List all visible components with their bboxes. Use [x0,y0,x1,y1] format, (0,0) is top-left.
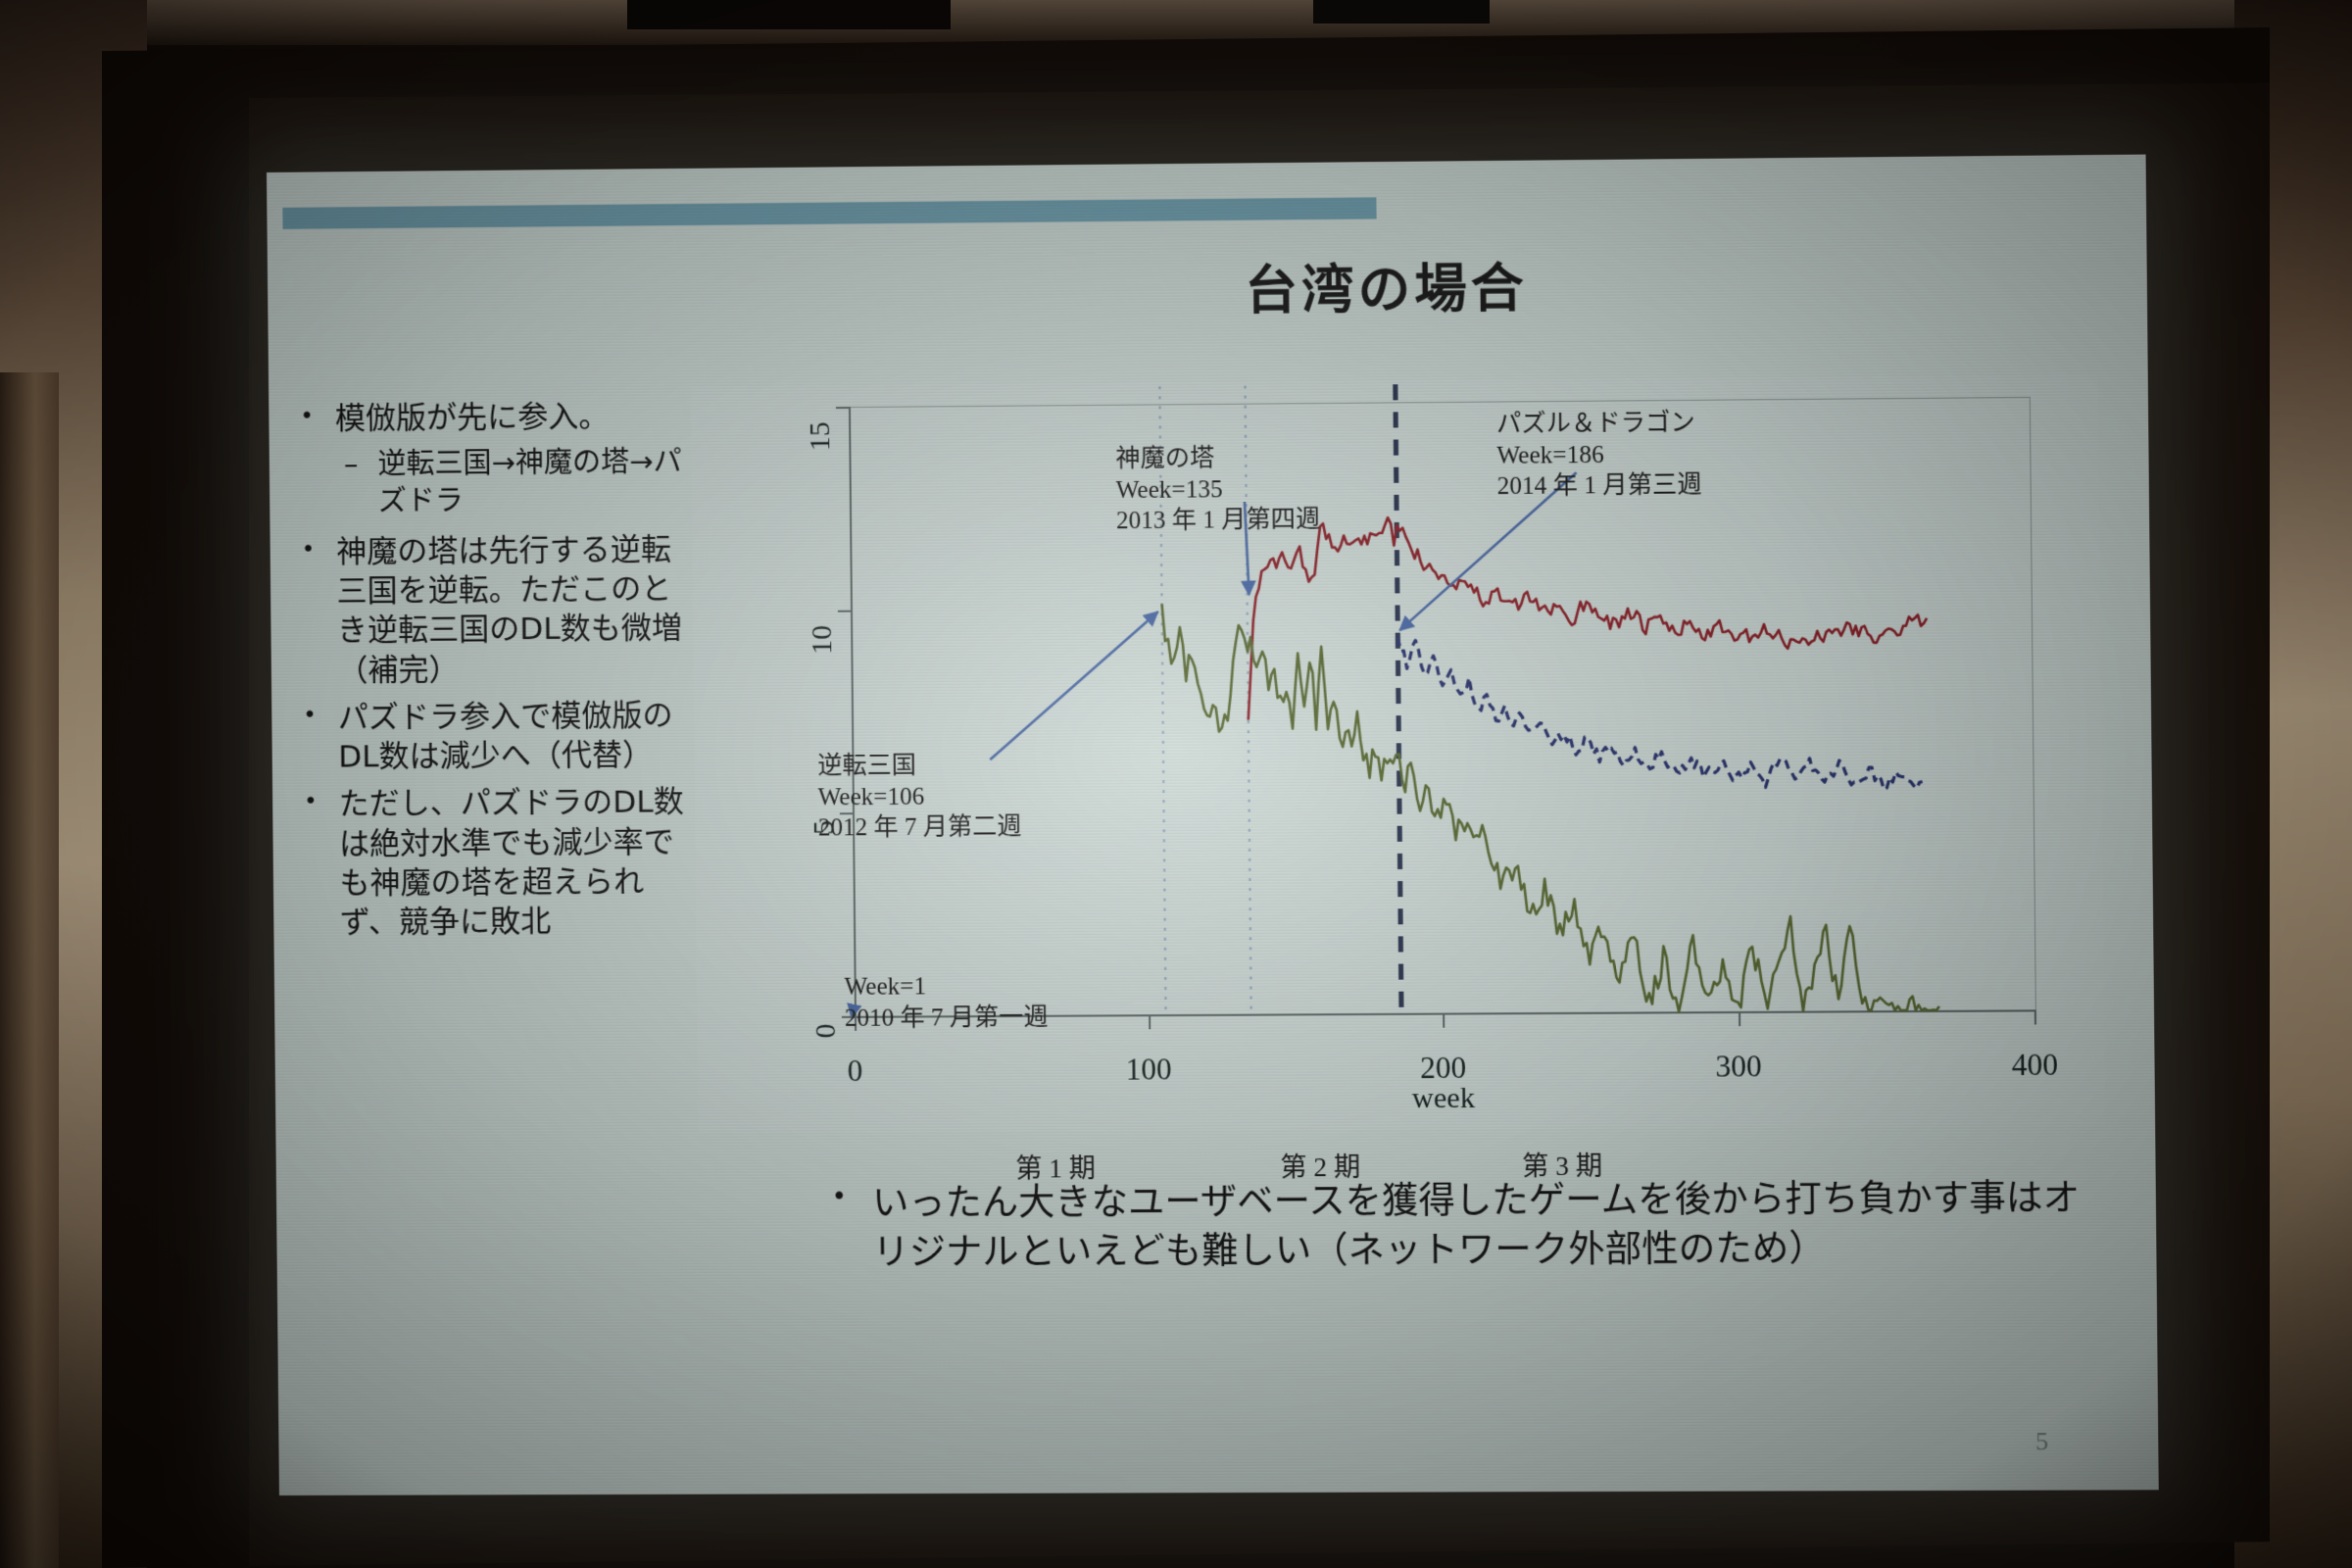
x-tick-label: 100 [1126,1052,1172,1087]
x-tick-label: 200 [1420,1051,1466,1086]
x-tick-mark [1739,1013,1740,1026]
bullet-text: 模倣版が先に参入。 [335,396,694,438]
annotation-arrow-icon [989,612,1159,759]
download-trend-chart: 0510150100200300400 week 第 1 期第 2 期第 3 期… [691,374,2105,1133]
x-axis-label: week [856,1079,2035,1118]
x-tick-label: 400 [2012,1048,2059,1084]
bullet-text: ただし、パズドラのDL数は絶対水準でも減少率でも神魔の塔を超えられず、競争に敗北 [339,783,699,944]
list-item: • ただし、パズドラのDL数は絶対水準でも減少率でも神魔の塔を超えられず、競争に… [304,783,698,944]
ann-kamima: 神魔の塔 Week=135 2013 年 1 月第四週 [1115,442,1320,537]
ann-pazudora: パズル＆ドラゴン Week=186 2014 年 1 月第三週 [1496,408,1702,503]
bullet-text: 逆転三国→神魔の塔→パズドラ [377,444,694,520]
slide-number: 5 [2035,1427,2049,1456]
projected-slide-photo: 台湾の場合 • 模倣版が先に参入。 – 逆転三国→神魔の塔→パズドラ • 神魔の… [0,0,2352,1568]
y-tick-mark [838,610,851,612]
x-tick-mark [1149,1016,1151,1029]
list-item-sub: – 逆転三国→神魔の塔→パズドラ [344,444,695,520]
list-item: • パズドラ参入で模倣版のDL数は減少へ（代替） [303,696,697,777]
x-tick-label: 0 [848,1053,863,1089]
bullet-dot-icon: • [831,1179,847,1278]
title-accent-bar [282,197,1376,229]
x-tick-mark [1443,1015,1445,1028]
ceiling-panel-left [627,0,951,29]
list-item: • 神魔の塔は先行する逆転三国を逆転。ただこのとき逆転三国のDL数も微増（補完） [302,529,696,690]
list-item: • 模倣版が先に参入。 [300,396,693,439]
x-tick-label: 300 [1715,1049,1762,1085]
bullet-dot-icon: • [304,785,318,943]
ann-week1: Week=1 2010 年 7 月第一週 [844,971,1048,1034]
bullet-dash-icon: – [344,447,359,521]
bullet-dot-icon: • [303,699,317,778]
y-tick-mark [836,407,849,409]
bullet-list: • 模倣版が先に参入。 – 逆転三国→神魔の塔→パズドラ • 神魔の塔は先行する… [300,396,698,951]
summary-bullet-text: いったん大きなユーザベースを獲得したゲームを後から打ち負かす事はオリジナルといえ… [872,1173,2112,1278]
x-tick-mark [2034,1011,2036,1024]
room-wall-left-shadow [0,372,59,1568]
bullet-text: 神魔の塔は先行する逆転三国を逆転。ただこのとき逆転三国のDL数も微増（補完） [336,529,696,690]
presentation-slide: 台湾の場合 • 模倣版が先に参入。 – 逆転三国→神魔の塔→パズドラ • 神魔の… [267,155,2159,1495]
bullet-dot-icon: • [302,532,317,690]
ann-gyakuten: 逆転三国 Week=106 2012 年 7 月第二週 [817,750,1021,844]
period-labels: 第 1 期第 2 期第 3 期 [856,1143,2035,1149]
summary-bullet: • いったん大きなユーザベースを獲得したゲームを後から打ち負かす事はオリジナルと… [831,1173,2111,1278]
bullet-dot-icon: • [300,400,314,439]
page-title: 台湾の場合 [449,240,2332,332]
bullet-text: パズドラ参入で模倣版のDL数は減少へ（代替） [338,696,697,777]
ceiling-panel-right [1313,0,1490,24]
